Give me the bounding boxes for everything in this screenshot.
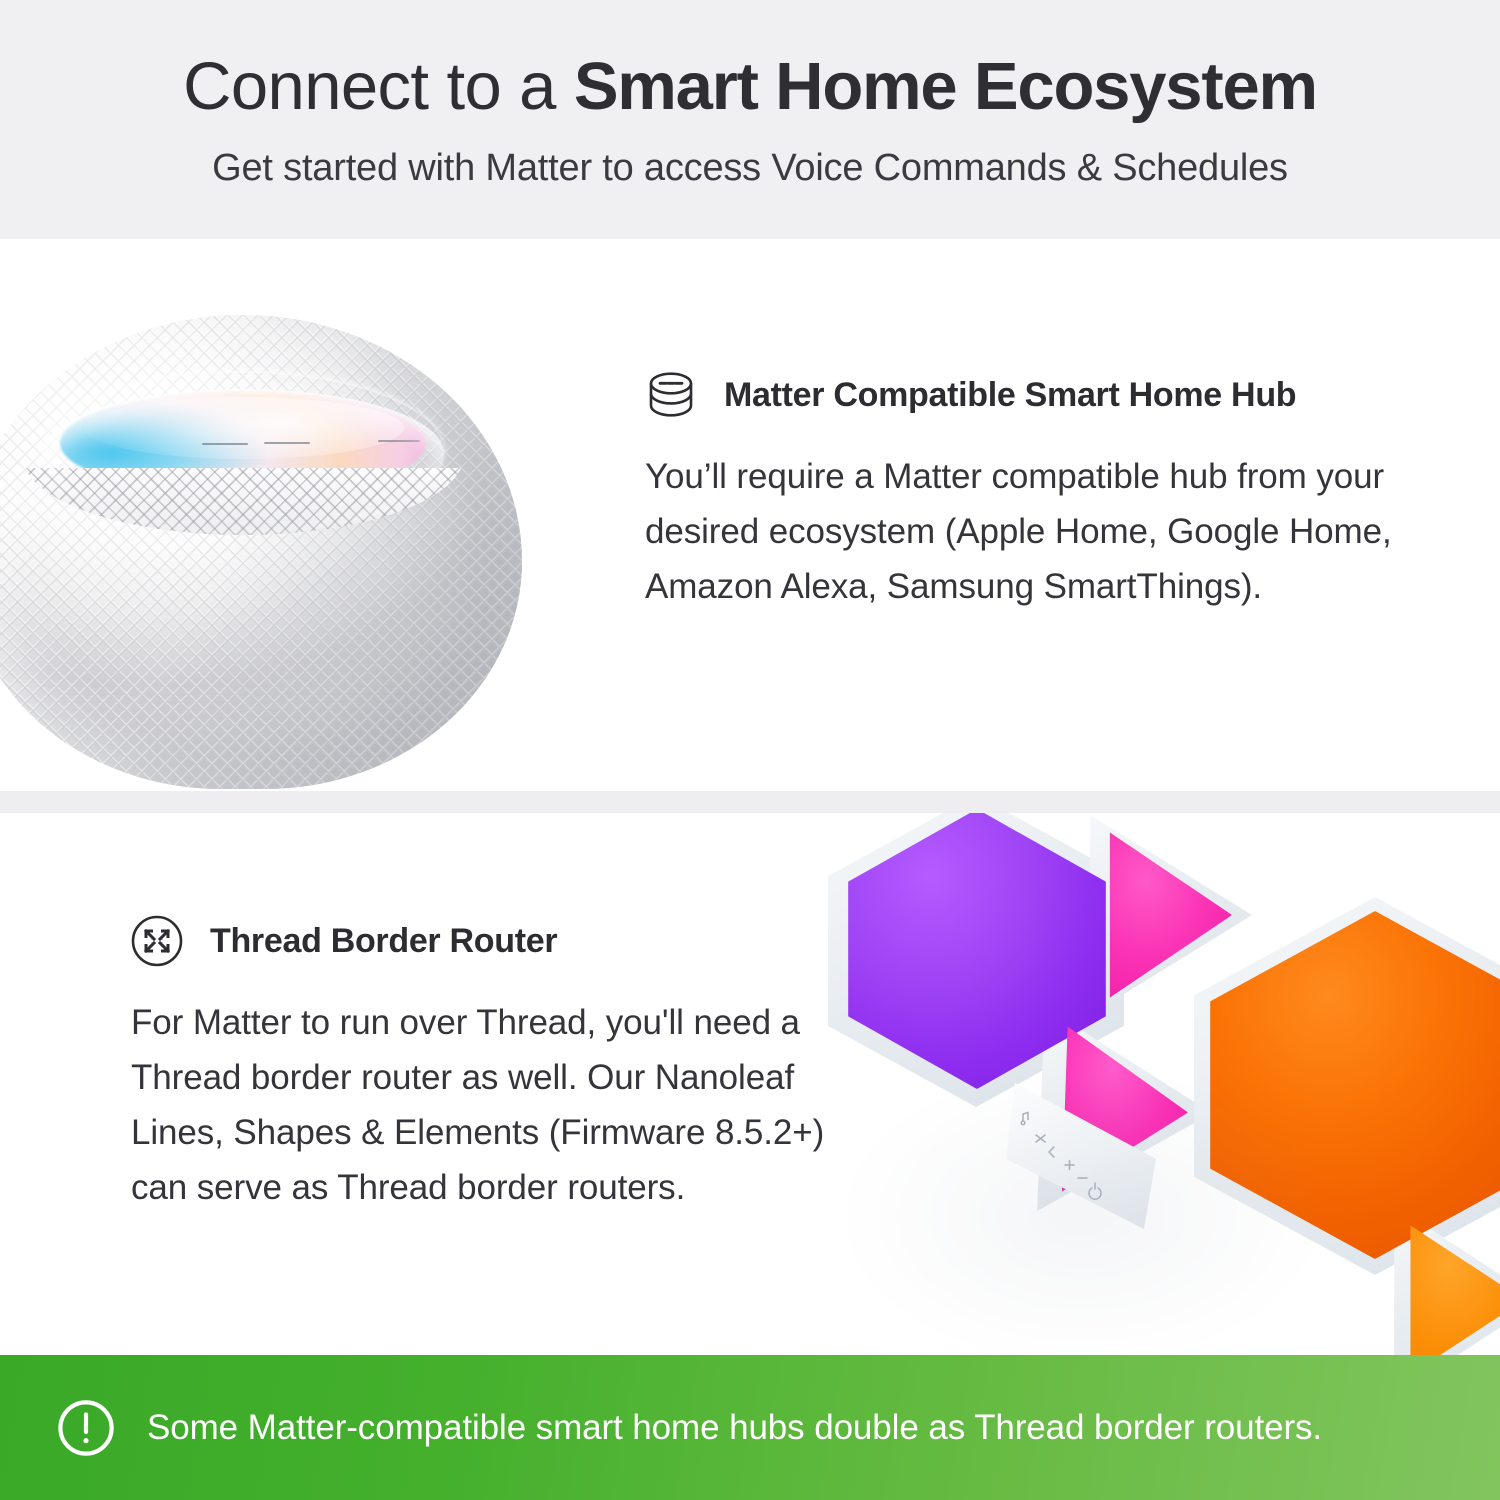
- page-subtitle: Get started with Matter to access Voice …: [0, 144, 1500, 192]
- thread-heading-row: Thread Border Router: [131, 915, 871, 967]
- smart-speaker-hub-icon: [645, 369, 697, 421]
- thread-border-router-icon: [131, 915, 183, 967]
- page-title-bold: Smart Home Ecosystem: [574, 49, 1317, 124]
- shuffle-icon: [1036, 1135, 1045, 1142]
- exclamation-circle-icon: [57, 1399, 115, 1457]
- homepod-mini-image: [0, 315, 522, 791]
- header-banner: Connect to a Smart Home Ecosystem Get st…: [0, 0, 1500, 239]
- hub-heading-row: Matter Compatible Smart Home Hub: [645, 369, 1435, 421]
- thread-text-block: Thread Border Router For Matter to run o…: [131, 915, 871, 1215]
- section-divider: [0, 791, 1500, 813]
- plus-icon: [1065, 1161, 1074, 1170]
- thread-body-text: For Matter to run over Thread, you'll ne…: [131, 995, 831, 1215]
- note-banner-text: Some Matter-compatible smart home hubs d…: [147, 1406, 1322, 1450]
- nanoleaf-control-icons: [1006, 1083, 1156, 1229]
- hub-heading: Matter Compatible Smart Home Hub: [724, 376, 1296, 415]
- homepod-mesh-lip: [22, 375, 464, 535]
- nanoleaf-shapes-image: [820, 813, 1500, 1355]
- section-thread-border-router: Thread Border Router For Matter to run o…: [0, 813, 1500, 1355]
- hub-body-text: You’ll require a Matter compatible hub f…: [645, 449, 1415, 614]
- page-title-light: Connect to a: [183, 49, 574, 124]
- power-icon: [1089, 1183, 1101, 1199]
- nanoleaf-panel-pink-triangle-top: [1090, 829, 1232, 1001]
- section-smart-home-hub: Matter Compatible Smart Home Hub You’ll …: [0, 239, 1500, 791]
- music-note-icon: [1021, 1113, 1028, 1125]
- hub-text-block: Matter Compatible Smart Home Hub You’ll …: [645, 369, 1435, 614]
- infographic-page: Connect to a Smart Home Ecosystem Get st…: [0, 0, 1500, 1500]
- note-banner: Some Matter-compatible smart home hubs d…: [0, 1355, 1500, 1500]
- page-title: Connect to a Smart Home Ecosystem: [0, 48, 1500, 126]
- back-arrow-icon: [1049, 1147, 1054, 1157]
- thread-heading: Thread Border Router: [210, 922, 557, 961]
